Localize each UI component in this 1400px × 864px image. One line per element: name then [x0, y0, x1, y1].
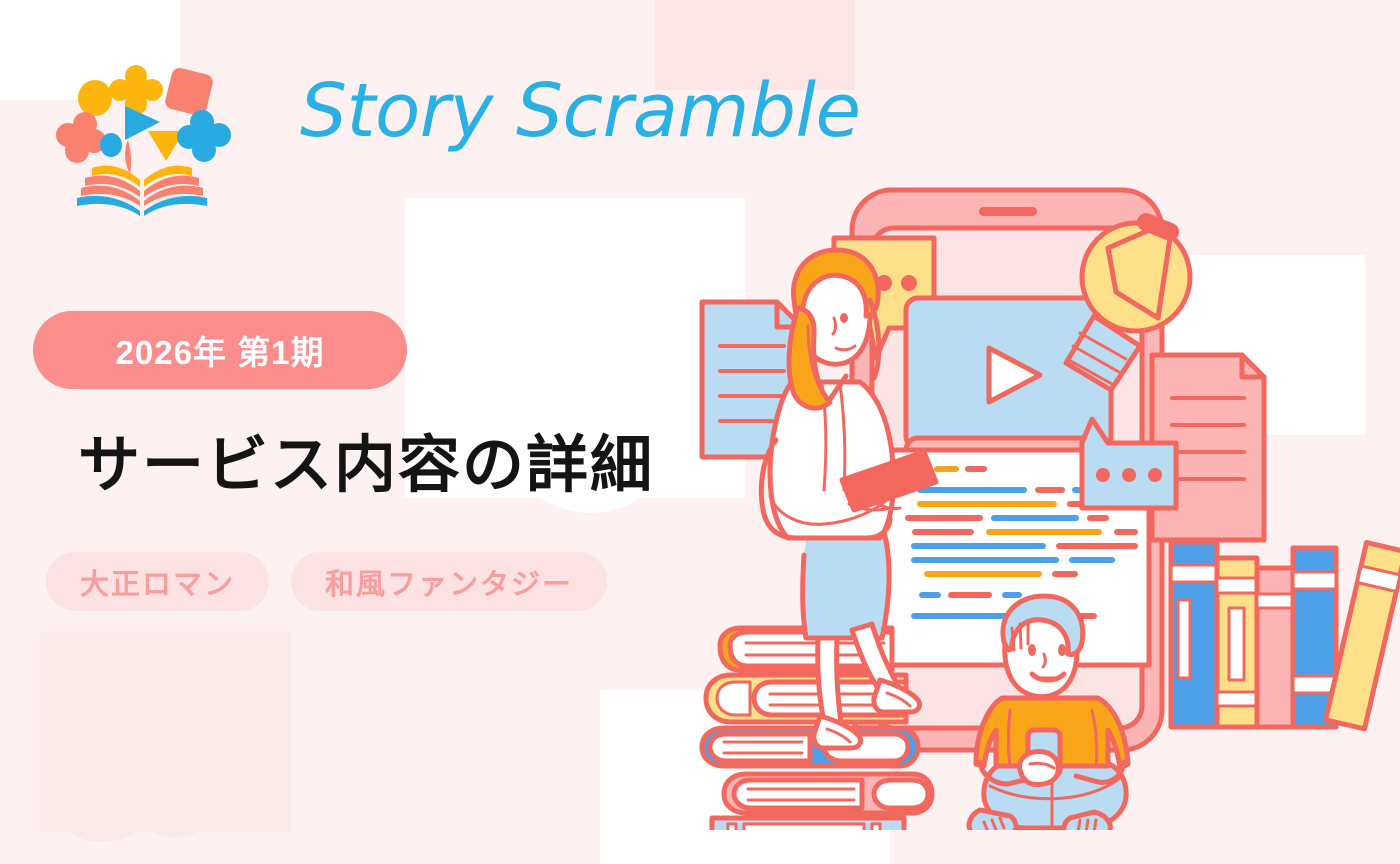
hero-illustration: .ol { fill:none; stroke:#f2685f; stroke-…	[684, 150, 1400, 830]
hero-banner: Story Scramble 2026年 第1期 サービス内容の詳細 大正ロマン…	[0, 0, 1400, 864]
term-badge: 2026年 第1期	[33, 311, 407, 389]
brand-wordmark: Story Scramble	[300, 74, 861, 148]
tag-pill[interactable]: 大正ロマン	[46, 552, 269, 611]
tag-pill[interactable]: 和風ファンタジー	[291, 552, 607, 611]
brand-logo[interactable]: Story Scramble	[52, 52, 792, 217]
tag-label: 和風ファンタジー	[325, 561, 573, 603]
term-badge-label: 2026年 第1期	[116, 326, 325, 374]
tag-label: 大正ロマン	[80, 561, 235, 603]
open-book-logo-icon	[52, 52, 232, 217]
standing-books	[1171, 542, 1400, 729]
cloud-decoration-bottom-left	[40, 632, 290, 832]
page-title: サービス内容の詳細	[78, 432, 654, 500]
tag-list: 大正ロマン 和風ファンタジー	[46, 552, 607, 611]
